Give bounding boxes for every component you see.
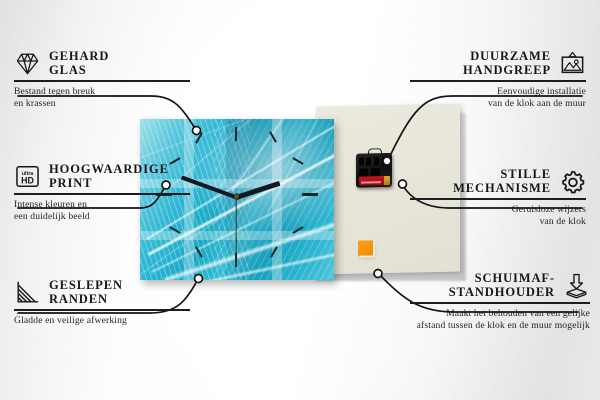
hour-marker-12 [235,127,237,141]
feature-title-line1: STILLE [453,168,551,182]
feature-hoogwaardige-print: ultra HD HOOGWAARDIGE PRINT Intense kleu… [14,163,190,223]
feature-desc-line2: en krassen [14,98,190,110]
feature-desc-line2: van de klok [410,216,586,228]
divider [14,309,190,311]
feature-title-line2: RANDEN [49,293,123,307]
feature-description: Intense kleuren en een duidelijk beeld [14,199,190,224]
feature-desc-line1: Intense kleuren en [14,199,190,211]
feature-title-line1: GESLEPEN [49,279,123,293]
hands-pivot [234,194,239,199]
press-down-stack-icon [563,272,590,299]
quartz-movement [356,153,392,188]
feature-title-line1: SCHUIMAF- [449,272,555,286]
feature-desc-line2: afstand tussen de klok en de muur mogeli… [410,320,590,332]
feature-title-line1: DUURZAME [463,50,551,64]
orange-foam-spacer [358,240,373,255]
feature-description: Bestand tegen breuk en krassen [14,86,190,111]
feature-description: Maakt het behouden van een gelijke afsta… [410,308,590,333]
feature-title-line2: PRINT [49,177,169,191]
feature-schuimafstandhouder: SCHUIMAF- STANDHOUDER Maakt het behouden… [410,272,590,332]
feature-desc-line1: Geruisloze wijzers [410,204,586,216]
feature-desc-line2: een duidelijk beeld [14,211,190,223]
movement-vent-right [371,168,380,176]
feature-title-line2: MECHANISME [453,182,551,196]
divider [14,80,190,82]
feature-title: GESLEPEN RANDEN [49,279,123,306]
feature-duurzame-handgreep: DUURZAME HANDGREEP Eenvoudige installati… [410,50,586,110]
divider [410,198,586,200]
feature-geslepen-randen: GESLEPEN RANDEN Gladde en veilige afwerk… [14,279,190,327]
hanger-loop-icon [368,148,382,156]
movement-vents [359,157,389,167]
feature-desc-line1: Bestand tegen breuk [14,86,190,98]
feature-desc-line1: Eenvoudige installatie [410,86,586,98]
feature-desc-line2: van de klok aan de muur [410,98,586,110]
feature-desc-line1: Maakt het behouden van een gelijke [410,308,590,320]
second-hand [235,197,236,259]
feature-title-line1: HOOGWAARDIGE [49,163,169,177]
feature-title: STILLE MECHANISME [453,168,551,195]
feature-description: Geruisloze wijzers van de klok [410,204,586,229]
diamond-icon [14,50,41,77]
framed-picture-icon [559,50,586,77]
hour-marker-3 [302,193,318,196]
feature-title-line2: STANDHOUDER [449,286,555,300]
aa-battery [359,176,390,186]
feature-title: HOOGWAARDIGE PRINT [49,163,169,190]
ultra-hd-icon: ultra HD [14,163,41,190]
feature-title: SCHUIMAF- STANDHOUDER [449,272,555,299]
gear-icon [559,168,586,195]
divider [410,80,586,82]
divider [410,302,590,304]
svg-text:HD: HD [21,175,34,185]
feature-title: DUURZAME HANDGREEP [463,50,551,77]
feature-title: GEHARD GLAS [49,50,109,77]
feature-description: Gladde en veilige afwerking [14,315,190,327]
divider [14,193,190,195]
feature-desc-line1: Gladde en veilige afwerking [14,315,190,327]
feature-stille-mechanisme: STILLE MECHANISME Geruisloze wijzers van… [410,168,586,228]
feature-title-line2: HANDGREEP [463,64,551,78]
infographic-canvas: GEHARD GLAS Bestand tegen breuk en krass… [0,0,600,400]
beveled-edge-icon [14,279,41,306]
feature-gehard-glas: GEHARD GLAS Bestand tegen breuk en krass… [14,50,190,110]
movement-vent-left [359,168,368,176]
feature-title-line1: GEHARD [49,50,109,64]
feature-description: Eenvoudige installatie van de klok aan d… [410,86,586,111]
feature-title-line2: GLAS [49,64,109,78]
